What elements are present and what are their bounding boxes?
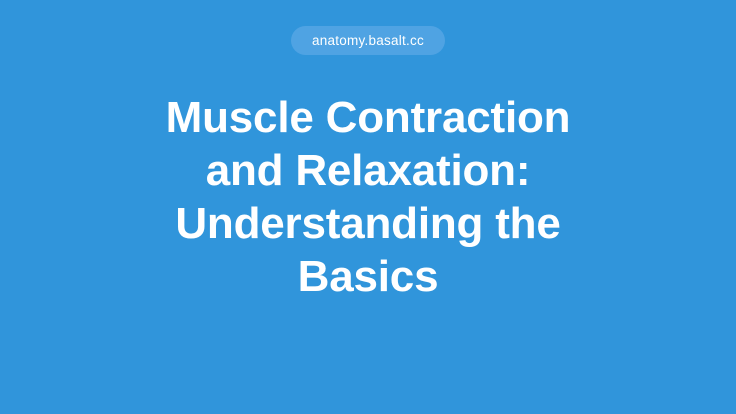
title-line-3: Understanding the <box>88 197 648 250</box>
page-title: Muscle Contraction and Relaxation: Under… <box>88 91 648 303</box>
title-line-2: and Relaxation: <box>88 144 648 197</box>
badge-row: anatomy.basalt.cc <box>0 26 736 55</box>
title-line-1: Muscle Contraction <box>88 91 648 144</box>
title-slide: anatomy.basalt.cc Muscle Contraction and… <box>0 0 736 414</box>
title-line-4: Basics <box>88 250 648 303</box>
site-domain-badge: anatomy.basalt.cc <box>291 26 445 55</box>
